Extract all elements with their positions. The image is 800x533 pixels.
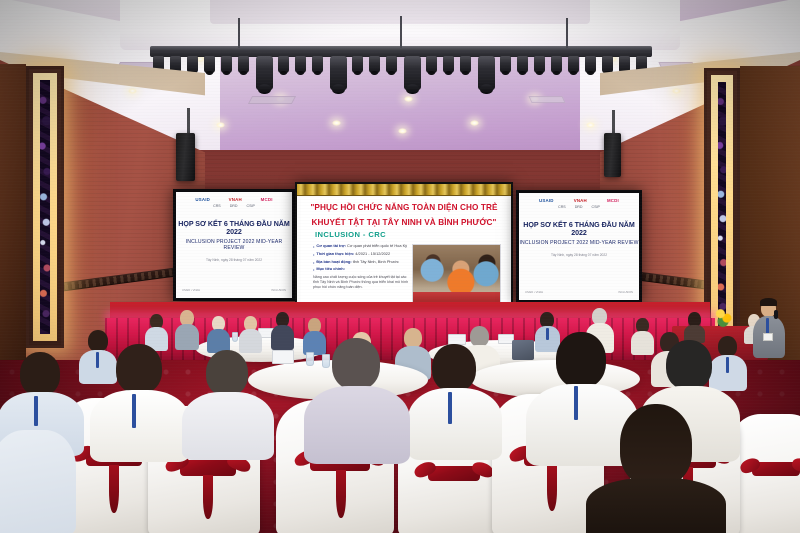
bullet-label: Địa bàn hoạt động: [316, 259, 351, 264]
lanyard [726, 357, 729, 373]
bullet-value: 4/2021 - 15/12/2022 [355, 251, 390, 256]
vnah-logo: VNAH [229, 197, 242, 202]
right-projection-screen[interactable]: USAID VNAH MCDI CRS DRD CSIP HỌP SƠ KẾT … [516, 190, 642, 303]
left-slide-subtitle: INCLUSION PROJECT 2022 MID-YEAR REVIEW [176, 239, 292, 251]
moving-head-light-large [478, 56, 495, 90]
bullet-label: Cơ quan tài trợ: [316, 243, 346, 248]
bullet-label: Thời gian thực hiện: [316, 251, 354, 256]
microphone-icon [774, 310, 778, 319]
usaid-logo: USAID [539, 198, 554, 203]
lanyard [132, 394, 136, 428]
right-slide-logo-row-2: CRS DRD CSIP [519, 204, 639, 209]
chair-bow-tail [109, 465, 119, 513]
mcdi-logo: MCDI [261, 197, 273, 202]
center-slide-body: "PHỤC HỒI CHỨC NĂNG TOÀN DIỆN CHO TRẺ KH… [301, 198, 507, 303]
moving-head-light [369, 56, 380, 73]
speaker-mount-pole [187, 108, 190, 136]
head [116, 344, 162, 394]
ac-vent [528, 96, 565, 103]
chair-bow-tail [547, 465, 557, 511]
vnah-logo: VNAH [574, 198, 587, 203]
center-slide-photo-column [412, 244, 507, 306]
chair-with-white-cover [730, 414, 800, 533]
torso [271, 325, 294, 350]
downlight [586, 122, 595, 128]
head [556, 332, 606, 388]
torso [631, 331, 654, 355]
bullet-label: Mục tiêu chính: [316, 266, 345, 271]
downlight [404, 96, 413, 102]
moving-head-light [568, 56, 579, 73]
center-slide-subtitle: INCLUSION - CRC [315, 230, 507, 239]
ac-vent [248, 96, 296, 104]
slide-bullet: • Mục tiêu chính: [313, 267, 412, 272]
drd-logo: DRD [575, 205, 583, 209]
name-badge [763, 333, 773, 341]
moving-head-light [443, 56, 454, 73]
torso [586, 478, 726, 533]
moving-head-light [500, 56, 511, 73]
downlight [470, 120, 479, 126]
left-slide-title: HỌP SƠ KẾT 6 THÁNG ĐẦU NĂM 2022 [176, 220, 292, 236]
head [20, 352, 60, 396]
chair-red-bow [180, 460, 236, 476]
center-slide-title-line2: KHUYẾT TẬT TẠI TÂY NINH VÀ BÌNH PHƯỚC" [301, 218, 507, 228]
lanyard [546, 328, 549, 340]
water-glass [322, 354, 330, 368]
conference-hall-photo: USAID VNAH MCDI CRS DRD CSIP HỌP SƠ KẾT … [0, 0, 800, 533]
mcdi-logo: MCDI [607, 198, 619, 203]
chair-bow-tail [336, 470, 346, 518]
moving-head-light-large [404, 56, 421, 90]
chair-red-bow [428, 466, 480, 481]
torso [182, 392, 274, 460]
moving-head-light [602, 56, 613, 73]
center-screen-surface: "PHỤC HỒI CHỨC NĂNG TOÀN DIỆN CHO TRẺ KH… [297, 184, 511, 306]
torso-white-shirt [408, 388, 502, 460]
head [88, 330, 108, 352]
slide-photo-mother-and-child [412, 244, 501, 306]
water-glass [232, 332, 238, 342]
left-slide-footer: USAID • VNAH INCLUSION [182, 289, 286, 292]
bullet-dot-icon: • [313, 260, 314, 265]
panel-lattice-carving [718, 82, 726, 326]
downlight [672, 88, 681, 94]
moving-head-light [187, 56, 198, 73]
carved-lattice-panel-left [26, 66, 64, 348]
truss-cable [400, 16, 402, 48]
lanyard [34, 396, 38, 426]
head [432, 344, 476, 392]
moving-head-light-large [330, 56, 347, 90]
moving-head-light [278, 56, 289, 73]
bullet-value: tỉnh Tây Ninh, Bình Phước [353, 259, 399, 264]
bullet-value: Cơ quan phát triển quốc tế Hoa Kỳ [347, 243, 407, 248]
moving-head-light [204, 56, 215, 73]
table-flower-arrangement [710, 306, 736, 328]
left-slide-footer-right: INCLUSION [271, 289, 286, 292]
moving-head-light [312, 56, 323, 73]
bullet-dot-icon: • [313, 252, 314, 257]
moving-head-light [534, 56, 545, 73]
left-slide-date: Tây Ninh, ngày 28 tháng 07 năm 2022 [176, 258, 292, 262]
bullet-dot-icon: • [313, 267, 314, 272]
csip-logo: CSIP [592, 205, 600, 209]
right-slide-title: HỌP SƠ KẾT 6 THÁNG ĐẦU NĂM 2022 [519, 221, 639, 237]
slide-bullet: • Cơ quan tài trợ: Cơ quan phát triển qu… [313, 244, 412, 249]
line-array-loudspeaker [604, 133, 621, 177]
csip-logo: CSIP [247, 204, 255, 208]
right-slide-footer-right: INCLUSION [618, 291, 633, 294]
torso-checked-shirt [304, 386, 410, 464]
right-slide-footer: USAID • VNAH INCLUSION [525, 291, 633, 294]
slide-bullet: • Địa bàn hoạt động: tỉnh Tây Ninh, Bình… [313, 260, 412, 265]
torso-white-shirt [90, 390, 190, 462]
moving-head-light [295, 56, 306, 73]
usaid-logo: USAID [195, 197, 210, 202]
moving-head-light-large [256, 56, 273, 90]
downlight [332, 120, 341, 126]
moving-head-light [585, 56, 596, 73]
torso [175, 324, 199, 350]
hair [760, 298, 777, 306]
lanyard [766, 318, 769, 334]
chair-bow-tail [203, 475, 213, 519]
moving-head-light [238, 56, 249, 73]
right-slide-date: Tây Ninh, ngày 28 tháng 07 năm 2022 [519, 253, 639, 257]
moving-head-light [460, 56, 471, 73]
line-array-loudspeaker [176, 133, 195, 181]
torso [239, 329, 262, 353]
left-screen-surface: USAID VNAH MCDI CRS DRD CSIP HỌP SƠ KẾT … [176, 192, 292, 298]
center-slide-paragraph: Nâng cao chất lượng cuộc sống của trẻ kh… [313, 275, 412, 290]
left-wall-wood-pillar [0, 64, 26, 364]
torso-patterned-shirt [0, 430, 76, 533]
chair-red-bow [752, 462, 800, 476]
right-slide-logo-row-1: USAID VNAH MCDI [519, 193, 639, 204]
slide-bullet: • Thời gian thực hiện: 4/2021 - 15/12/20… [313, 252, 412, 257]
panel-lattice-carving [40, 80, 50, 334]
slide-ornamental-border [297, 184, 511, 196]
downlight [398, 128, 407, 134]
head [666, 340, 712, 390]
head-grey-hair [332, 338, 380, 390]
center-projection-screen[interactable]: "PHỤC HỒI CHỨC NĂNG TOÀN DIỆN CHO TRẺ KH… [295, 182, 513, 308]
right-slide-footer-left: USAID • VNAH [525, 291, 543, 294]
crs-logo: CRS [558, 205, 566, 209]
carved-lattice-panel-right [704, 68, 740, 340]
center-slide-title-line1: "PHỤC HỒI CHỨC NĂNG TOÀN DIỆN CHO TRẺ [301, 203, 507, 213]
head-long-hair [620, 404, 692, 486]
center-slide-text-column: • Cơ quan tài trợ: Cơ quan phát triển qu… [301, 244, 412, 306]
projector-or-device [512, 340, 534, 360]
right-slide-subtitle: INCLUSION PROJECT 2022 MID-YEAR REVIEW [519, 240, 639, 246]
moving-head-light [221, 56, 232, 73]
water-glass [306, 352, 314, 366]
truss-cable [238, 18, 240, 48]
head-grey-hair [470, 326, 489, 347]
lanyard [96, 352, 99, 368]
drd-logo: DRD [230, 204, 238, 208]
left-projection-screen[interactable]: USAID VNAH MCDI CRS DRD CSIP HỌP SƠ KẾT … [173, 189, 295, 301]
head [718, 336, 737, 357]
lanyard [448, 392, 452, 424]
truss-cable [566, 18, 568, 48]
moving-head-light [386, 56, 397, 73]
crs-logo: CRS [213, 204, 221, 208]
downlight [216, 122, 225, 128]
lanyard [574, 386, 578, 420]
left-slide-logo-row-1: USAID VNAH MCDI [176, 192, 292, 203]
head-grey-hair [206, 350, 248, 396]
moving-head-light [426, 56, 437, 73]
left-slide-footer-left: USAID • VNAH [182, 289, 200, 292]
moving-head-light [551, 56, 562, 73]
downlight [128, 88, 137, 94]
bullet-dot-icon: • [313, 244, 314, 249]
left-slide-logo-row-2: CRS DRD CSIP [176, 203, 292, 208]
moving-head-light [517, 56, 528, 73]
center-slide-columns: • Cơ quan tài trợ: Cơ quan phát triển qu… [301, 244, 507, 306]
head [404, 328, 422, 348]
right-screen-surface: USAID VNAH MCDI CRS DRD CSIP HỌP SƠ KẾT … [519, 193, 639, 300]
moving-head-light [352, 56, 363, 73]
table-tent-card [272, 350, 294, 364]
